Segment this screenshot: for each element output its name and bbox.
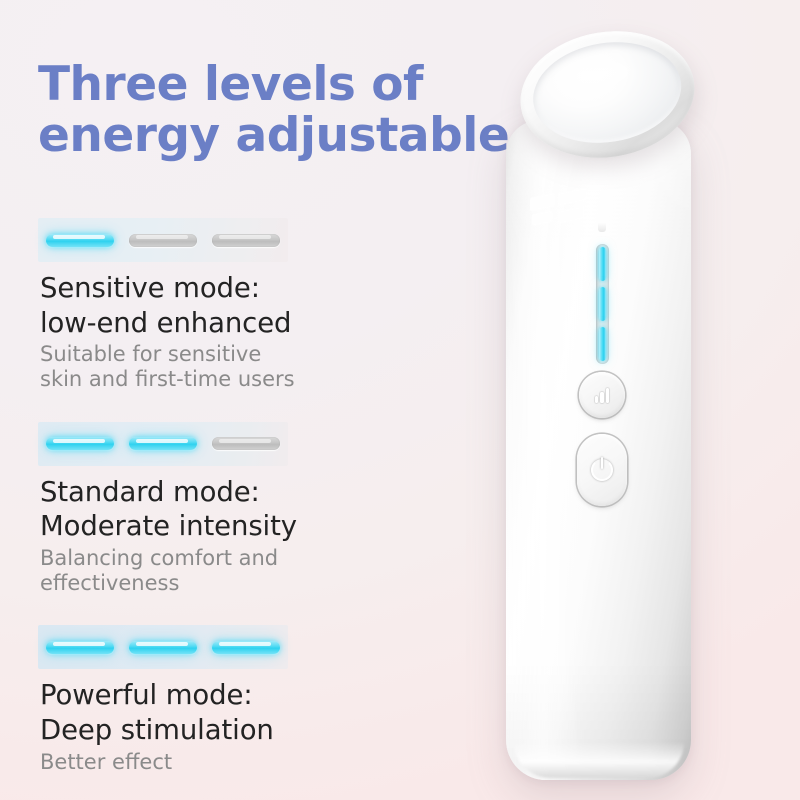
feature-item-standard: Standard mode: Moderate intensity Balanc…: [0, 422, 380, 597]
energy-bar-2: [129, 641, 197, 654]
feature-text-sensitive: Sensitive mode: low-end enhanced Suitabl…: [40, 271, 380, 393]
feature-title-line-2: low-end enhanced: [40, 306, 380, 341]
feature-title-standard: Standard mode: Moderate intensity: [40, 475, 380, 544]
energy-bar-1: [46, 437, 114, 450]
power-button[interactable]: [577, 434, 627, 506]
energy-bar-3: [212, 641, 280, 654]
energy-bar-1: [46, 641, 114, 654]
feature-list: Sensitive mode: low-end enhanced Suitabl…: [0, 218, 380, 775]
feature-subtitle-line-1: Balancing comfort and: [40, 546, 380, 571]
feature-subtitle-line-2: effectiveness: [40, 571, 380, 596]
feature-title-line-2: Deep stimulation: [40, 713, 380, 748]
page-title: Three levels of energy adjustable: [38, 60, 508, 162]
power-icon: [591, 459, 613, 481]
feature-text-powerful: Powerful mode: Deep stimulation Better e…: [40, 678, 380, 774]
feature-subtitle-standard: Balancing comfort and effectiveness: [40, 546, 380, 596]
led-segment-2: [599, 287, 606, 321]
feature-title-line-2: Moderate intensity: [40, 509, 380, 544]
led-segment-1: [599, 247, 606, 281]
feature-subtitle-line-2: skin and first-time users: [40, 367, 380, 392]
feature-item-powerful: Powerful mode: Deep stimulation Better e…: [0, 625, 380, 774]
energy-indicator-level-1: [38, 218, 288, 262]
energy-bar-3: [212, 437, 280, 450]
feature-title-sensitive: Sensitive mode: low-end enhanced: [40, 271, 380, 340]
device-bottom-rim: [514, 742, 684, 778]
feature-text-standard: Standard mode: Moderate intensity Balanc…: [40, 475, 380, 597]
feature-title-line-1: Powerful mode:: [40, 678, 380, 713]
energy-bar-2: [129, 437, 197, 450]
energy-indicator-level-2: [38, 422, 288, 466]
energy-indicator-level-3: [38, 625, 288, 669]
energy-bar-1: [46, 234, 114, 247]
headline-line-2: energy adjustable: [38, 111, 508, 162]
feature-subtitle-line-1: Suitable for sensitive: [40, 342, 380, 367]
feature-title-line-1: Sensitive mode:: [40, 271, 380, 306]
energy-bar-3: [212, 234, 280, 247]
feature-subtitle-line-1: Better effect: [40, 750, 380, 775]
feature-subtitle-sensitive: Suitable for sensitive skin and first-ti…: [40, 342, 380, 392]
led-segment-3: [599, 327, 606, 361]
device-illustration: [470, 10, 800, 800]
feature-title-powerful: Powerful mode: Deep stimulation: [40, 678, 380, 747]
feature-item-sensitive: Sensitive mode: low-end enhanced Suitabl…: [0, 218, 380, 393]
feature-subtitle-powerful: Better effect: [40, 750, 380, 775]
signal-bars-icon: [595, 388, 609, 403]
product-feature-poster: Three levels of energy adjustable Sensit…: [0, 0, 800, 800]
energy-bar-2: [129, 234, 197, 247]
device-status-dot: [598, 222, 606, 232]
device-led-strip: [596, 244, 609, 364]
level-button[interactable]: [579, 372, 625, 418]
headline-line-1: Three levels of: [38, 60, 508, 111]
feature-title-line-1: Standard mode:: [40, 475, 380, 510]
